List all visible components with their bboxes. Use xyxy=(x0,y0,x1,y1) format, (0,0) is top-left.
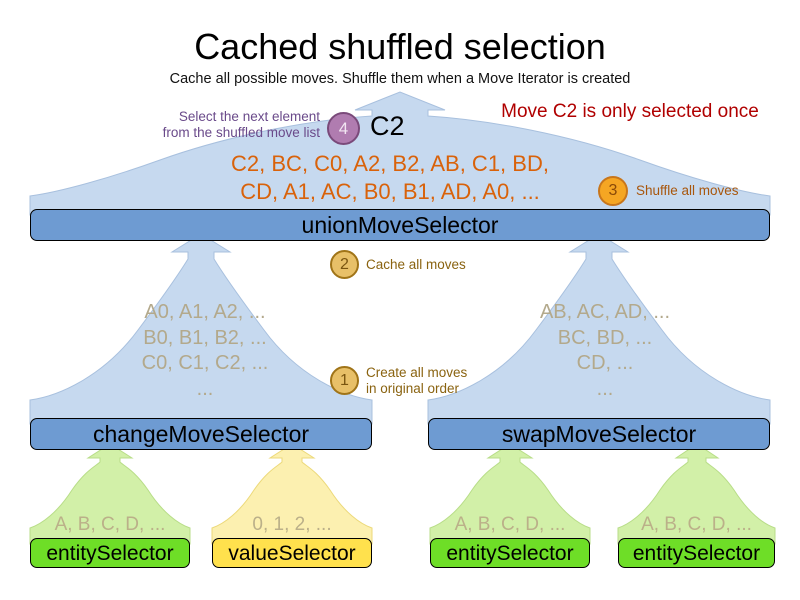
entity-selector-bar-2[interactable]: entitySelector xyxy=(618,538,775,568)
step-badge-4: 4 xyxy=(327,112,360,145)
step-label-1: Create all moves in original order xyxy=(366,365,546,398)
step-label-4: Select the next element from the shuffle… xyxy=(140,109,320,142)
value-selector-bar[interactable]: valueSelector xyxy=(212,538,372,568)
step-badge-3: 3 xyxy=(598,176,628,206)
selected-move-token: C2 xyxy=(370,113,405,140)
leaf-value-list-3: A, B, C, D, ... xyxy=(618,514,775,536)
step-badge-2: 2 xyxy=(330,250,359,279)
change-move-list: A0, A1, A2, ... B0, B1, B2, ... C0, C1, … xyxy=(60,300,350,402)
leaf-value-list-0: A, B, C, D, ... xyxy=(30,514,190,536)
change-move-selector-bar[interactable]: changeMoveSelector xyxy=(30,418,372,450)
step-label-2: Cache all moves xyxy=(366,257,546,273)
leaf-value-list-1: 0, 1, 2, ... xyxy=(212,514,372,536)
step-badge-1: 1 xyxy=(330,366,359,395)
leaf-value-list-2: A, B, C, D, ... xyxy=(430,514,590,536)
entity-selector-bar-0[interactable]: entitySelector xyxy=(30,538,190,568)
entity-selector-bar-1[interactable]: entitySelector xyxy=(430,538,590,568)
swap-move-selector-bar[interactable]: swapMoveSelector xyxy=(428,418,770,450)
step-label-3: Shuffle all moves xyxy=(636,183,800,199)
union-move-list: C2, BC, C0, A2, B2, AB, C1, BD, CD, A1, … xyxy=(140,150,640,206)
union-move-selector-bar[interactable]: unionMoveSelector xyxy=(30,209,770,241)
diagram-canvas: Cached shuffled selection Cache all poss… xyxy=(0,0,800,600)
